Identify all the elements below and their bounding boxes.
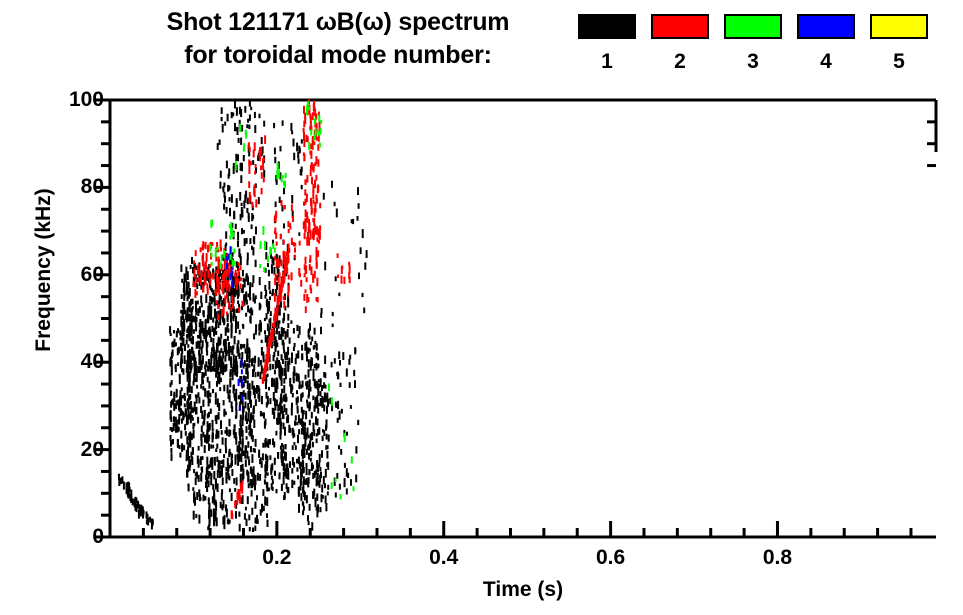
- data-point: [266, 482, 268, 488]
- data-point: [242, 417, 244, 426]
- data-point: [287, 323, 289, 328]
- data-point: [232, 317, 234, 321]
- data-point: [324, 356, 326, 364]
- data-point: [321, 308, 323, 313]
- data-point: [281, 354, 283, 360]
- data-point: [142, 510, 144, 517]
- data-point: [314, 471, 316, 478]
- data-point: [262, 162, 264, 166]
- data-point: [244, 455, 246, 459]
- data-point: [214, 457, 216, 466]
- data-point: [203, 495, 205, 502]
- data-point: [195, 250, 197, 256]
- data-point: [313, 345, 315, 349]
- data-point: [276, 389, 278, 393]
- data-point: [324, 262, 326, 271]
- data-point: [344, 478, 346, 485]
- data-point: [190, 419, 192, 423]
- data-point: [248, 165, 250, 174]
- data-point: [173, 394, 175, 402]
- data-point: [224, 196, 226, 203]
- data-point: [278, 320, 280, 324]
- data-point: [177, 439, 179, 448]
- data-point: [265, 438, 267, 443]
- data-point: [267, 472, 269, 475]
- data-point: [180, 431, 182, 439]
- data-point: [354, 380, 356, 388]
- data-point: [334, 202, 336, 206]
- data-point: [243, 143, 245, 152]
- data-point: [201, 270, 203, 277]
- data-point: [241, 379, 243, 387]
- data-point: [204, 325, 206, 333]
- data-point: [319, 467, 321, 471]
- data-point: [277, 258, 279, 266]
- data-point: [262, 443, 264, 448]
- data-point: [336, 473, 338, 479]
- data-point: [326, 406, 328, 414]
- data-point: [186, 436, 188, 444]
- data-point: [215, 398, 217, 404]
- data-point: [270, 248, 272, 254]
- data-point: [303, 140, 305, 147]
- data-point: [228, 353, 230, 361]
- data-point: [317, 429, 319, 436]
- data-point: [242, 405, 244, 413]
- data-point: [248, 460, 250, 466]
- data-point: [227, 385, 229, 394]
- data-point: [349, 355, 351, 360]
- data-point: [248, 152, 250, 156]
- data-point: [260, 292, 262, 299]
- data-point: [347, 473, 349, 478]
- data-point: [298, 335, 300, 339]
- data-point: [283, 477, 285, 485]
- data-point: [321, 450, 323, 458]
- data-point: [273, 123, 275, 128]
- data-point: [349, 265, 351, 274]
- data-point: [255, 372, 257, 377]
- data-point: [366, 250, 368, 258]
- data-point: [300, 479, 302, 484]
- data-point: [293, 153, 295, 161]
- data-point: [305, 257, 307, 265]
- data-point: [130, 490, 132, 495]
- data-point: [323, 372, 325, 377]
- data-point: [269, 455, 271, 460]
- data-point: [307, 481, 309, 487]
- data-point: [327, 462, 329, 470]
- data-point: [274, 148, 276, 155]
- data-point: [209, 278, 211, 285]
- data-point: [298, 415, 300, 423]
- data-point: [262, 226, 264, 235]
- data-point: [273, 352, 275, 357]
- data-point: [317, 185, 319, 193]
- data-point: [281, 285, 283, 290]
- data-point: [297, 406, 299, 410]
- data-point: [314, 364, 316, 368]
- data-point: [181, 279, 183, 283]
- data-point: [206, 435, 208, 443]
- data-point: [211, 288, 213, 292]
- data-point: [179, 396, 181, 405]
- data-point: [241, 369, 243, 374]
- data-point: [350, 405, 352, 409]
- data-point: [292, 428, 294, 436]
- data-point: [302, 410, 304, 419]
- data-point: [172, 344, 174, 348]
- data-point: [273, 442, 275, 448]
- data-point: [325, 503, 327, 511]
- data-point: [227, 336, 229, 341]
- data-point: [308, 329, 310, 333]
- data-point: [203, 311, 205, 317]
- data-point: [302, 421, 304, 429]
- data-point: [196, 472, 198, 479]
- data-point: [284, 181, 286, 189]
- data-point: [223, 250, 225, 258]
- data-point: [188, 433, 190, 440]
- data-point: [325, 425, 327, 431]
- data-point: [317, 297, 319, 302]
- data-point: [216, 275, 218, 282]
- data-point: [277, 267, 279, 273]
- data-point: [221, 309, 223, 317]
- data-point: [242, 270, 244, 276]
- data-point: [358, 273, 360, 280]
- data-point: [336, 372, 338, 376]
- data-point: [271, 378, 273, 385]
- data-point: [285, 173, 287, 179]
- data-point: [287, 257, 289, 263]
- data-point: [232, 374, 234, 381]
- data-point: [275, 232, 277, 238]
- data-point: [316, 510, 318, 518]
- data-point: [258, 197, 260, 204]
- data-point: [335, 478, 337, 482]
- data-point: [285, 361, 287, 367]
- data-point: [297, 396, 299, 402]
- data-point: [216, 517, 218, 526]
- data-point: [305, 306, 307, 313]
- data-point: [208, 412, 210, 417]
- data-point: [233, 211, 235, 219]
- data-point: [193, 260, 195, 264]
- data-point: [253, 293, 255, 301]
- data-point: [194, 269, 196, 276]
- data-point: [195, 409, 197, 414]
- data-point: [339, 360, 341, 366]
- data-point: [287, 314, 289, 321]
- data-point: [301, 353, 303, 360]
- data-point: [252, 283, 254, 287]
- data-point: [270, 311, 272, 316]
- data-point: [293, 378, 295, 383]
- data-point: [275, 202, 277, 208]
- data-point: [315, 397, 317, 405]
- data-point: [196, 492, 198, 500]
- data-point: [340, 383, 342, 387]
- data-point: [181, 418, 183, 423]
- data-point: [226, 312, 228, 316]
- data-point: [308, 395, 310, 399]
- data-point: [169, 326, 171, 334]
- data-point: [282, 120, 284, 126]
- data-point: [297, 435, 299, 444]
- data-point: [195, 323, 197, 331]
- data-point: [309, 420, 311, 426]
- data-point: [307, 445, 309, 450]
- data-point: [231, 469, 233, 476]
- data-point: [257, 394, 259, 399]
- data-point: [275, 361, 277, 370]
- data-point: [219, 182, 221, 189]
- data-point: [212, 273, 214, 280]
- data-point: [220, 334, 222, 339]
- data-point: [225, 504, 227, 508]
- data-point: [308, 369, 310, 377]
- data-point: [325, 385, 327, 389]
- data-point: [248, 514, 250, 520]
- data-point: [302, 381, 304, 388]
- data-point: [286, 251, 288, 256]
- data-point: [313, 234, 315, 240]
- data-point: [200, 384, 202, 389]
- data-point: [190, 365, 192, 374]
- data-point: [298, 232, 300, 236]
- data-point: [225, 327, 227, 336]
- data-point: [261, 340, 263, 343]
- data-point: [293, 462, 295, 468]
- data-point: [180, 343, 182, 351]
- data-point: [248, 456, 250, 460]
- data-point: [351, 219, 353, 223]
- data-point: [291, 195, 293, 204]
- data-point: [268, 281, 270, 290]
- data-point: [305, 218, 307, 227]
- data-point: [239, 353, 241, 359]
- data-point: [257, 372, 259, 377]
- data-point: [259, 474, 261, 481]
- data-point: [179, 374, 181, 377]
- data-point: [283, 296, 285, 301]
- data-point: [206, 342, 208, 351]
- data-point: [306, 432, 308, 437]
- data-point: [243, 294, 245, 300]
- data-point: [262, 489, 264, 496]
- data-point: [279, 284, 281, 292]
- data-point: [210, 444, 212, 448]
- data-point: [287, 347, 289, 355]
- series-n=1: [118, 99, 368, 532]
- data-point: [241, 466, 243, 470]
- data-point: [229, 346, 231, 350]
- data-point: [212, 389, 214, 393]
- data-point: [280, 259, 282, 266]
- data-point: [243, 230, 245, 234]
- data-point: [310, 433, 312, 440]
- data-point: [187, 307, 189, 315]
- data-point: [313, 103, 315, 111]
- data-point: [246, 426, 248, 433]
- data-point: [328, 383, 330, 391]
- data-point: [301, 345, 303, 351]
- data-point: [310, 452, 312, 457]
- data-point: [274, 157, 276, 163]
- data-point: [205, 294, 207, 303]
- data-point: [261, 172, 263, 178]
- data-point: [187, 271, 189, 280]
- data-point: [282, 205, 284, 211]
- data-point: [267, 439, 269, 448]
- data-point: [209, 244, 211, 251]
- data-point: [188, 326, 190, 330]
- data-point: [289, 226, 291, 230]
- data-point: [339, 484, 341, 490]
- data-point: [315, 175, 317, 181]
- data-point: [248, 364, 250, 368]
- data-point: [170, 427, 172, 431]
- data-point: [299, 241, 301, 246]
- data-point: [219, 465, 221, 469]
- data-point: [248, 160, 250, 166]
- data-point: [324, 483, 326, 488]
- data-point: [209, 423, 211, 430]
- data-point: [235, 410, 237, 418]
- data-point: [229, 452, 231, 456]
- data-point: [316, 460, 318, 469]
- data-point: [322, 385, 324, 389]
- data-point: [189, 383, 191, 387]
- data-point: [357, 216, 359, 221]
- data-point: [283, 463, 285, 471]
- data-point: [341, 276, 343, 284]
- data-point: [323, 405, 325, 412]
- data-point: [357, 187, 359, 195]
- data-point: [234, 501, 236, 508]
- data-point: [285, 444, 287, 449]
- data-point: [174, 339, 176, 347]
- data-point: [305, 135, 307, 142]
- data-point: [248, 125, 250, 130]
- data-point: [252, 415, 254, 421]
- data-point: [209, 393, 211, 398]
- data-point: [291, 480, 293, 488]
- data-point: [298, 376, 300, 382]
- data-point: [310, 129, 312, 135]
- data-point: [184, 393, 186, 400]
- data-point: [169, 359, 171, 367]
- data-point: [220, 239, 222, 248]
- data-point: [198, 350, 200, 356]
- data-point: [244, 106, 246, 113]
- data-point: [244, 238, 246, 246]
- data-point: [262, 166, 264, 170]
- data-point: [300, 493, 302, 501]
- data-point: [241, 359, 243, 366]
- data-point: [274, 370, 276, 375]
- data-point: [195, 320, 197, 323]
- data-point: [290, 386, 292, 394]
- data-point: [255, 227, 257, 235]
- data-point: [239, 406, 241, 411]
- data-point: [270, 334, 272, 341]
- data-point: [174, 419, 176, 426]
- data-point: [342, 352, 344, 360]
- data-point: [176, 420, 178, 428]
- data-point: [312, 492, 314, 499]
- data-point: [303, 294, 305, 301]
- data-point: [220, 348, 222, 353]
- data-point: [207, 315, 209, 323]
- data-point: [219, 318, 221, 326]
- data-point: [310, 367, 312, 371]
- data-point: [230, 222, 232, 226]
- data-point: [284, 205, 286, 209]
- data-point: [264, 479, 266, 484]
- data-point: [308, 359, 310, 367]
- data-point: [264, 330, 266, 334]
- data-point: [206, 485, 208, 492]
- data-point: [242, 438, 244, 445]
- data-point: [313, 429, 315, 436]
- data-point: [203, 261, 205, 266]
- data-point: [321, 485, 323, 493]
- data-point: [231, 493, 233, 501]
- data-point: [320, 327, 322, 334]
- data-point: [316, 195, 318, 201]
- data-point: [228, 174, 230, 179]
- data-point: [234, 123, 236, 131]
- data-point: [239, 192, 241, 201]
- data-point: [303, 132, 305, 137]
- data-point: [296, 143, 298, 152]
- data-point: [207, 465, 209, 470]
- data-point: [292, 216, 294, 222]
- data-point: [210, 220, 212, 228]
- data-point: [255, 164, 257, 168]
- data-point: [293, 347, 295, 351]
- data-point: [206, 253, 208, 262]
- data-point: [294, 247, 296, 252]
- data-point: [192, 447, 194, 455]
- data-point: [198, 446, 200, 451]
- data-point: [249, 391, 251, 396]
- data-point: [312, 218, 314, 222]
- data-point: [253, 420, 255, 428]
- data-point: [306, 468, 308, 475]
- data-point: [243, 155, 245, 161]
- data-point: [248, 483, 250, 488]
- data-point: [274, 293, 276, 302]
- data-point: [215, 500, 217, 507]
- data-point: [232, 301, 234, 309]
- data-point: [358, 203, 360, 209]
- data-point: [187, 387, 189, 396]
- data-point: [253, 236, 255, 242]
- data-point: [237, 300, 239, 304]
- data-point: [220, 171, 222, 178]
- data-point: [277, 351, 279, 357]
- data-point: [251, 246, 253, 250]
- data-point: [247, 380, 249, 389]
- data-point: [337, 401, 339, 409]
- data-point: [207, 288, 209, 295]
- data-point: [323, 193, 325, 200]
- data-point: [316, 262, 318, 267]
- data-point: [241, 449, 243, 457]
